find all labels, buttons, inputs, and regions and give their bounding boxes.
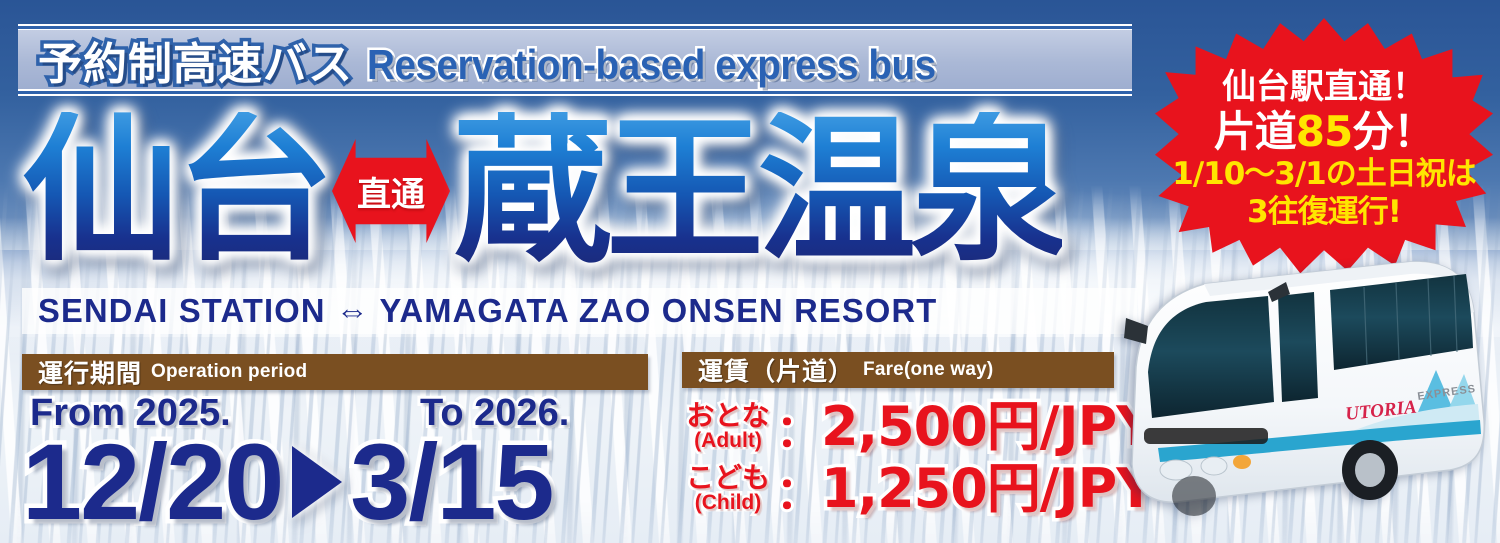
header-title-en: Reservation-based express bus — [367, 41, 936, 89]
fare-row-child: こども (Child) ： 1,250円/JPY — [682, 458, 1127, 520]
arrow-right-icon — [292, 446, 342, 518]
bus-turn-signal — [1233, 455, 1251, 469]
title-destination: 蔵王温泉 — [454, 112, 1062, 270]
fare-who-adult-en: (Adult) — [682, 430, 774, 452]
fare-table: おとな (Adult) ： 2,500円/JPY こども (Child) ： 1… — [682, 396, 1127, 532]
bus-illustration: UTORIA EXPRESS — [1118, 252, 1500, 543]
bus-wheel-rear-hub — [1355, 453, 1385, 487]
starburst-badge: 仙台駅直通！ 片道85分！ 1/10〜3/1の土日祝は 3往復運行! — [1155, 18, 1493, 276]
bus-headlight-right — [1201, 457, 1227, 475]
fare-colon-adult: ： — [776, 395, 820, 459]
operation-period-en: Operation period — [151, 361, 307, 383]
starburst-content: 仙台駅直通！ 片道85分！ 1/10〜3/1の土日祝は 3往復運行! — [1155, 18, 1493, 276]
fare-who-child: こども (Child) — [682, 464, 774, 514]
starburst-line2-highlight: 85 — [1296, 107, 1352, 156]
header-band: 予約制高速バス Reservation-based express bus — [18, 24, 1132, 96]
fare-row-adult: おとな (Adult) ： 2,500円/JPY — [682, 396, 1127, 458]
route-text-en: SENDAI STATION ⇔ YAMAGATA ZAO ONSEN RESO… — [38, 292, 937, 330]
operation-period-values: From 2025. To 2026. 12/20 3/15 — [22, 392, 662, 538]
header-text-group: 予約制高速バス Reservation-based express bus — [38, 28, 985, 92]
fare-colon-child: ： — [776, 457, 820, 521]
fare-who-child-en: (Child) — [682, 492, 774, 514]
main-title: 仙台 直通 蔵王温泉 — [22, 96, 1162, 286]
fare-header: 運賃（片道） Fare(one way) — [682, 352, 1114, 388]
bus-wheel-front — [1172, 476, 1216, 516]
period-from-date: 12/20 — [22, 428, 282, 536]
starburst-line2: 片道85分！ — [1214, 109, 1434, 155]
direct-arrow-badge: 直通 — [332, 139, 450, 243]
bus-front-grille — [1144, 428, 1268, 444]
bus-photo: UTORIA EXPRESS — [1118, 252, 1500, 543]
fare-who-adult: おとな (Adult) — [682, 402, 774, 452]
bus-mirror-left — [1124, 318, 1148, 344]
fare-header-en: Fare(one way) — [863, 359, 993, 381]
fare-amount-adult: 2,500円/JPY — [821, 400, 1154, 454]
title-origin: 仙台 — [22, 112, 330, 270]
starburst-line3: 1/10〜3/1の土日祝は — [1172, 157, 1476, 193]
period-to-date: 3/15 — [350, 428, 552, 536]
starburst-line1: 仙台駅直通！ — [1222, 68, 1426, 107]
starburst-line2-pre: 片道 — [1214, 107, 1296, 156]
operation-period-jp: 運行期間 — [38, 354, 142, 390]
fare-header-jp: 運賃（片道） — [698, 352, 854, 388]
bus-door-glass — [1278, 292, 1318, 402]
starburst-line4: 3往復運行! — [1247, 195, 1401, 231]
direct-badge-label: 直通 — [357, 167, 425, 216]
fare-amount-child: 1,250円/JPY — [821, 462, 1154, 516]
fare-who-adult-jp: おとな — [682, 402, 774, 430]
operation-period-header: 運行期間 Operation period — [22, 354, 648, 390]
route-band: SENDAI STATION ⇔ YAMAGATA ZAO ONSEN RESO… — [22, 288, 1137, 334]
period-dates: 12/20 3/15 — [22, 428, 662, 538]
starburst-line2-post: 分！ — [1352, 107, 1434, 156]
promo-banner: 予約制高速バス Reservation-based express bus 仙台… — [0, 0, 1500, 543]
fare-who-child-jp: こども — [682, 464, 774, 492]
header-title-jp: 予約制高速バス — [38, 28, 353, 92]
